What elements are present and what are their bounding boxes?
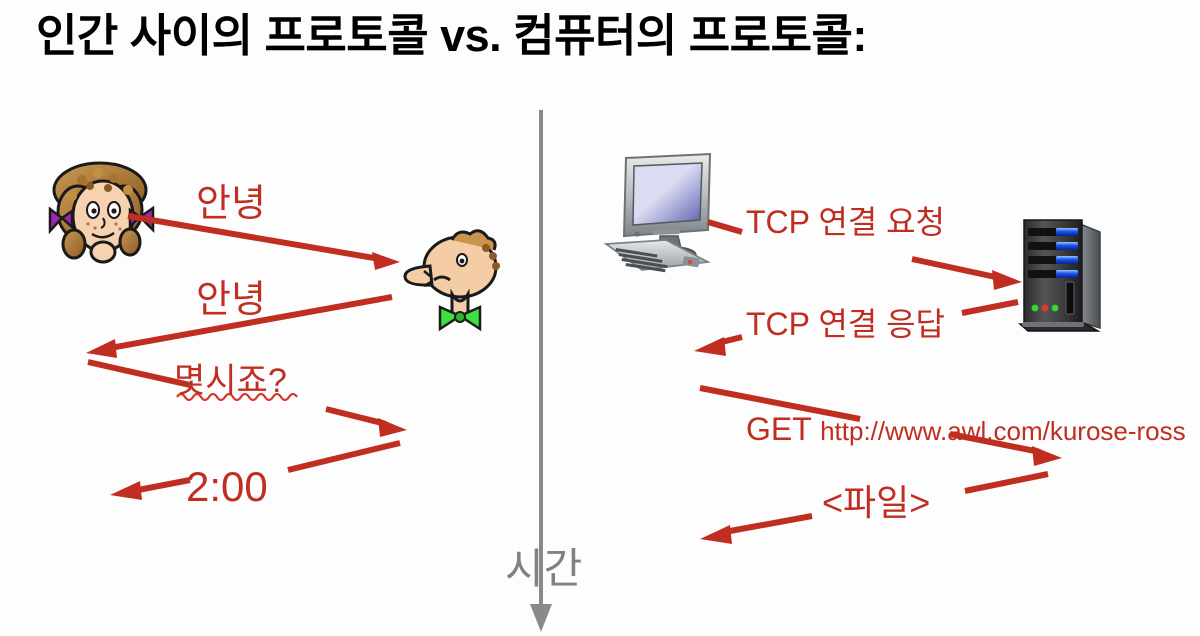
human-message-label-2: 안녕 — [196, 281, 266, 319]
human-message-label-4: 2:00 — [186, 466, 268, 508]
human-message-label-3: 몇시죠? — [174, 364, 287, 398]
slide-canvas: 인간 사이의 프로토콜 vs. 컴퓨터의 프로토콜: — [0, 0, 1200, 636]
computer-message-label-3: GET http://www.awl.com/kurose-ross — [746, 413, 1186, 445]
human-message-label-1: 안녕 — [196, 185, 266, 223]
computer-message-label-2: TCP 연결 응답 — [746, 308, 945, 340]
man-face-figure — [405, 231, 500, 329]
computer-message-label-4: <파일> — [822, 485, 930, 521]
diagram-graphics-layer — [0, 0, 1200, 636]
woman-face-figure — [50, 163, 153, 262]
server-tower-figure — [1020, 220, 1100, 331]
get-method-label: GET — [746, 411, 820, 447]
timeline-label: 시간 — [505, 548, 582, 590]
computer-message-label-1: TCP 연결 요청 — [746, 206, 945, 238]
get-url-label: http://www.awl.com/kurose-ross — [820, 416, 1186, 446]
desktop-computer-figure — [606, 154, 710, 272]
human-message-arrows — [86, 216, 407, 500]
